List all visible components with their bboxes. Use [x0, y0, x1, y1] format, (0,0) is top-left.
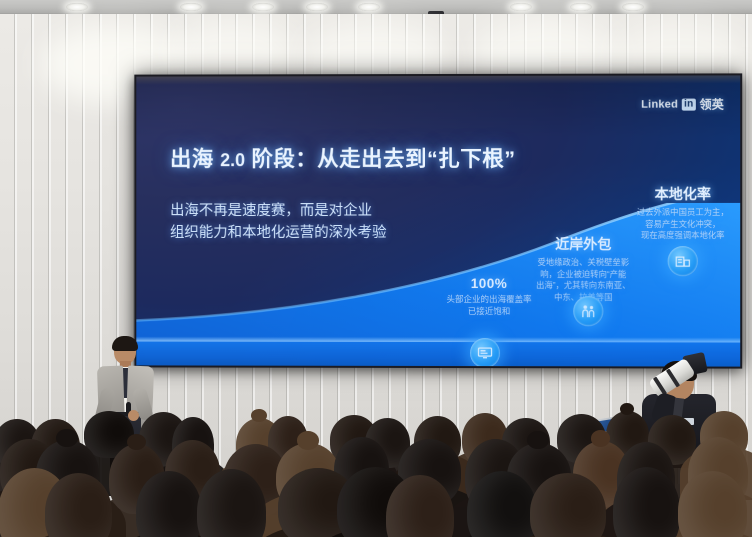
- slide-title: 出海 2.0 阶段：从走出去到“扎下根”: [170, 142, 516, 173]
- people-icon: [573, 296, 603, 326]
- callout-localization-body-line-1: 过去外派中国员工为主，: [623, 207, 742, 219]
- callout-nearshore-body-line-2: 响，企业被迫转向“产能: [517, 269, 650, 281]
- ceiling-downlight: [358, 3, 380, 11]
- logo-word: Linked: [641, 98, 678, 110]
- slide-title-rest: 阶段：从走出去到“扎下根”: [245, 147, 516, 171]
- audience-hair-bun: [127, 434, 146, 450]
- slide-title-version: 2.0: [220, 150, 245, 170]
- monitor-icon: [470, 338, 500, 368]
- slide-title-lead: 出海: [170, 147, 220, 171]
- logo-in-box: in: [682, 98, 695, 110]
- callout-nearshore-body-line-1: 受地缘政治、关税壁垒影: [517, 257, 650, 269]
- callout-localization-body: 过去外派中国员工为主， 容易产生文化冲突， 现在高度强调本地化率: [623, 207, 742, 242]
- callout-localization-body-line-2: 容易产生文化冲突，: [623, 219, 742, 231]
- slide-subtitle-line-2: 组织能力和本地化运营的深水考验: [170, 222, 387, 244]
- slide-subtitle: 出海不再是速度赛，而是对企业 组织能力和本地化运营的深水考验: [170, 200, 387, 245]
- audience-hair-bun: [297, 431, 319, 450]
- audience-hair-bun: [56, 429, 77, 447]
- ceiling-downlight: [510, 3, 532, 11]
- callout-nearshore-body-line-3: 出海”，尤其转向东南亚、: [517, 280, 650, 292]
- callout-saturation-body-line-2: 已接近饱和: [429, 306, 549, 318]
- audience-hair-bun: [527, 431, 549, 449]
- audience-hair-bun: [251, 409, 267, 423]
- ceiling-downlight: [570, 3, 592, 11]
- led-presentation-screen: Linkedin领英 出海 2.0 阶段：从走出去到“扎下根” 出海不再是速度赛…: [134, 73, 742, 368]
- audience-head: [530, 473, 606, 537]
- slide-subtitle-line-1: 出海不再是速度赛，而是对企业: [170, 200, 387, 222]
- ceiling-downlight: [180, 3, 202, 11]
- monitor-icon-glyph: [477, 345, 493, 361]
- screen-top-sheen: [134, 73, 742, 84]
- linkedin-logo: Linkedin领英: [641, 96, 724, 113]
- people-icon-glyph: [580, 303, 596, 319]
- ceiling-downlight: [252, 3, 274, 11]
- callout-localization: 本地化率 过去外派中国员工为主， 容易产生文化冲突， 现在高度强调本地化率: [623, 184, 742, 242]
- audience-hair-bun: [591, 430, 610, 446]
- callout-localization-heading: 本地化率: [623, 184, 742, 204]
- ceiling-downlight: [66, 3, 88, 11]
- city-icon-glyph: [675, 253, 691, 269]
- ceiling-downlight: [306, 3, 328, 11]
- conference-photo-scene: Linkedin领英 出海 2.0 阶段：从走出去到“扎下根” 出海不再是速度赛…: [0, 0, 752, 537]
- logo-chinese: 领英: [699, 96, 724, 113]
- callout-nearshore: 近岸外包 受地缘政治、关税壁垒影 响，企业被迫转向“产能 出海”，尤其转向东南亚…: [517, 234, 650, 304]
- ceiling-downlight: [622, 3, 644, 11]
- audience-crowd: [0, 387, 752, 537]
- callout-localization-body-line-3: 现在高度强调本地化率: [623, 230, 742, 242]
- speaker-hair: [112, 336, 138, 351]
- city-icon: [668, 246, 698, 276]
